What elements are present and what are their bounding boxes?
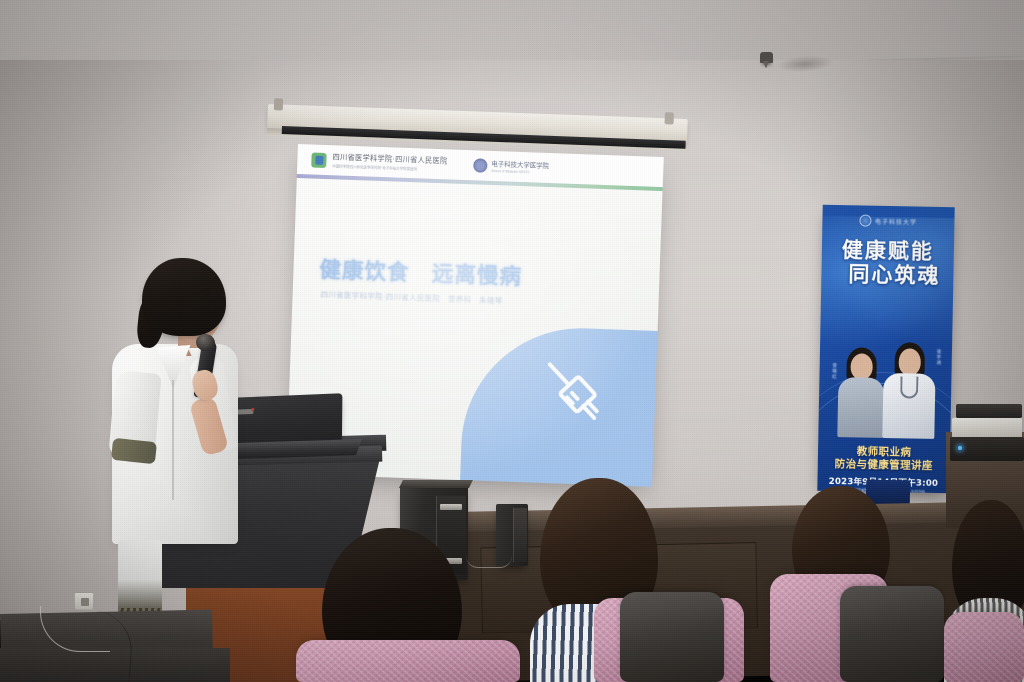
banner-logo-text: 电子科技大学 (875, 216, 917, 226)
banner-subtitle-line2: 防治与健康管理讲座 (824, 458, 944, 473)
banner-seal-icon (860, 214, 872, 226)
banner-logo: 电子科技大学 (822, 214, 954, 229)
case-bracket-left (274, 98, 283, 110)
satellite-front-face (513, 508, 527, 562)
thinkpad-logo-icon (237, 409, 253, 415)
speaker-coat-placket (172, 380, 174, 500)
hospital-logo-icon (311, 152, 327, 168)
speaker-cable (466, 556, 512, 568)
headrest-right (840, 586, 944, 682)
subwoofer-badge-top (440, 504, 462, 510)
portrait-face-right (898, 348, 921, 375)
university-name-en: School of Medicine UESTC (491, 169, 549, 175)
banner-headline: 健康赋能 同心筑魂 (821, 239, 954, 289)
speaker-sleeve-cuff (111, 438, 157, 464)
chair-fabric-texture (296, 640, 520, 682)
banner-name-left: 曾晓红 (831, 363, 837, 380)
banner-headline-line1: 健康赋能 (822, 239, 954, 265)
banner-subtitle: 教师职业病 防治与健康管理讲座 (824, 445, 944, 474)
rollup-banner: 电子科技大学 健康赋能 同心筑魂 曾晓红 张宇涵 教师职业病 防治与健康管理讲座 (817, 205, 954, 493)
portrait-face-left (850, 353, 872, 379)
lecture-photo: 四川省医学科学院·四川省人民医院 中国科学院四川转化医学研究院·电子科技大学附属… (0, 0, 1024, 682)
sprinkler-icon (760, 52, 773, 63)
stethoscope-icon (900, 376, 918, 398)
banner-name-right: 张宇涵 (936, 349, 942, 366)
banner-headline-line2: 同心筑魂 (835, 263, 953, 289)
university-seal-icon (473, 158, 487, 172)
portrait-body-left (837, 377, 884, 438)
case-bracket-right (665, 112, 674, 124)
speaker-hair (142, 258, 226, 336)
banner-portraits: 曾晓红 张宇涵 (828, 333, 942, 439)
syringe-icon (536, 353, 613, 434)
chair-left[interactable] (296, 640, 520, 682)
subwoofer-top-face (399, 480, 473, 488)
chair-fabric-texture (944, 612, 1024, 682)
av-device-top (956, 404, 1022, 418)
chair-far-right[interactable] (944, 612, 1024, 682)
av-power-led-icon (958, 446, 962, 450)
av-device-middle (952, 418, 1022, 438)
headrest-center (620, 592, 724, 682)
slide-title: 健康饮食 远离慢病 (319, 253, 620, 295)
